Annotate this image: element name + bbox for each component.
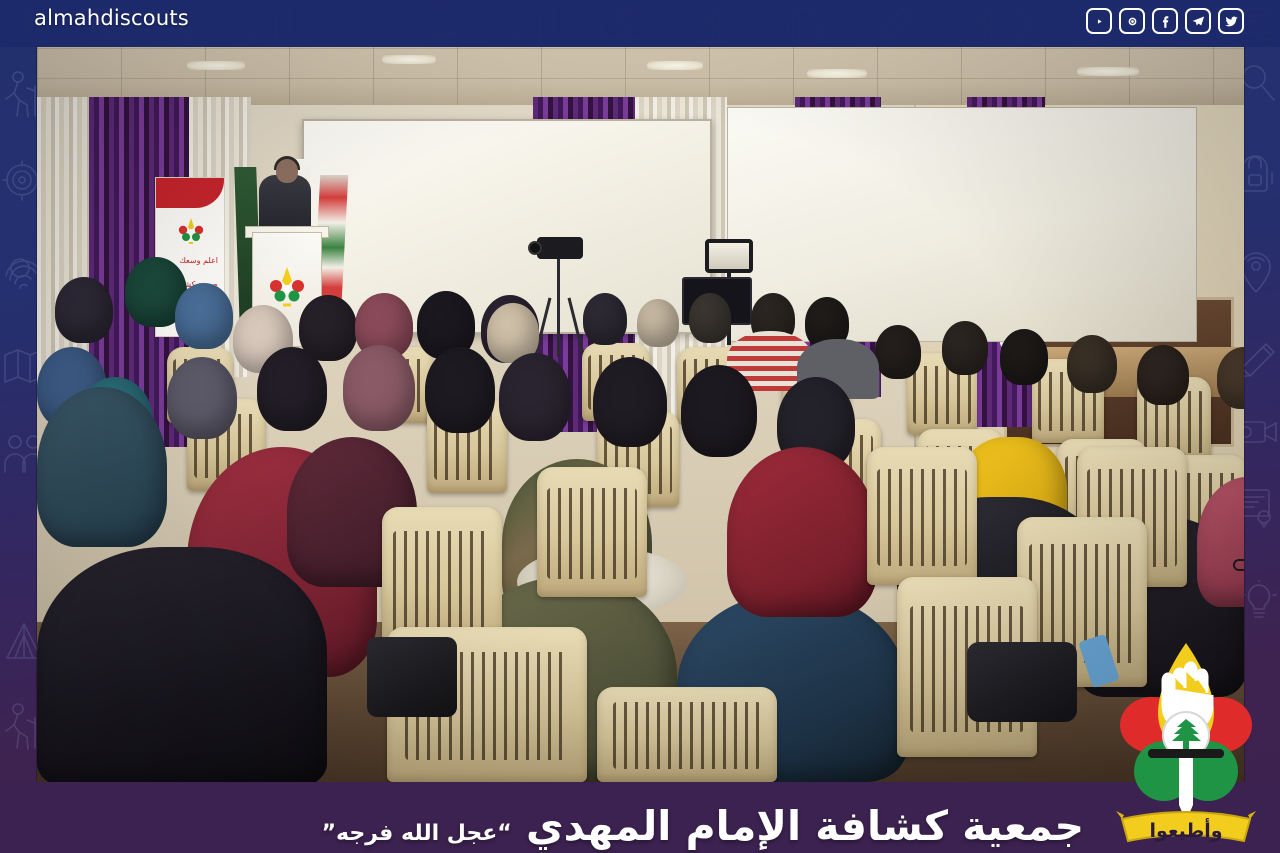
attendee-head	[1000, 329, 1048, 385]
led-light-panel	[705, 239, 753, 273]
attendee-head	[167, 357, 237, 439]
ceiling-light	[807, 69, 867, 78]
attendee-head	[257, 347, 327, 431]
handbag	[367, 637, 457, 717]
caption-band: جمعية كشافة الإمام المهدي “عجل الله فرجه…	[0, 782, 1280, 853]
attendee-head	[637, 299, 679, 347]
youtube-icon[interactable]	[1086, 8, 1112, 34]
photo-scene: اعلم وسعك جمعية كشافة الإمام المهدي	[37, 47, 1244, 782]
top-bar: almahdiscouts	[0, 0, 1280, 47]
podium-scout-logo	[269, 265, 305, 309]
attendee-head	[499, 353, 571, 441]
attendee-head	[37, 387, 167, 547]
speaker-head	[276, 159, 298, 183]
ceiling-light	[187, 61, 245, 70]
rollup-scout-logo	[178, 216, 204, 246]
social-links[interactable]	[1086, 8, 1244, 34]
attendee-head	[681, 365, 757, 457]
camera-body	[537, 237, 583, 259]
caption-honorific: “عجل الله فرجه”	[322, 821, 512, 846]
chair	[867, 447, 977, 585]
lightbulb-icon	[1240, 580, 1278, 624]
attendee-head	[55, 277, 113, 343]
camera-lens	[528, 241, 542, 255]
ceiling-light	[647, 61, 703, 70]
attendee-head	[942, 321, 988, 375]
ceiling-light	[1077, 67, 1139, 76]
chair	[537, 467, 647, 597]
attendee-head	[343, 345, 415, 431]
chair	[597, 687, 777, 782]
attendee-head	[425, 347, 495, 433]
attendee-head	[1137, 345, 1189, 405]
poster-root: اعلم وسعك جمعية كشافة الإمام المهدي	[0, 0, 1280, 853]
attendee-head	[875, 325, 921, 379]
projection-screen-secondary	[727, 107, 1197, 342]
attendee-head	[583, 293, 627, 345]
facebook-icon[interactable]	[1152, 8, 1178, 34]
caption-text: جمعية كشافة الإمام المهدي “عجل الله فرجه…	[322, 804, 1084, 849]
instagram-icon[interactable]	[1119, 8, 1145, 34]
attendee-head	[593, 357, 667, 447]
logo-banner-text: وأطيعوا	[1149, 818, 1222, 842]
video-camera-rig	[537, 237, 583, 357]
rollup-banner-red-block	[156, 178, 224, 208]
brand-label: almahdiscouts	[34, 6, 189, 30]
scout-emblem: وأطيعوا	[1112, 637, 1260, 849]
telegram-icon[interactable]	[1185, 8, 1211, 34]
attendee-glasses	[1233, 559, 1244, 571]
ceiling-light	[382, 55, 436, 64]
twitter-icon[interactable]	[1218, 8, 1244, 34]
event-photo: اعلم وسعك جمعية كشافة الإمام المهدي	[37, 47, 1244, 782]
attendee-head	[1067, 335, 1117, 393]
attendee-head	[689, 293, 731, 343]
attendee-head	[175, 283, 233, 349]
attendee-head	[37, 547, 327, 782]
handbag	[967, 642, 1077, 722]
tripod-center-leg	[557, 259, 560, 357]
caption-main: جمعية كشافة الإمام المهدي	[526, 802, 1084, 850]
attendee-head-hijab-red	[727, 447, 877, 617]
